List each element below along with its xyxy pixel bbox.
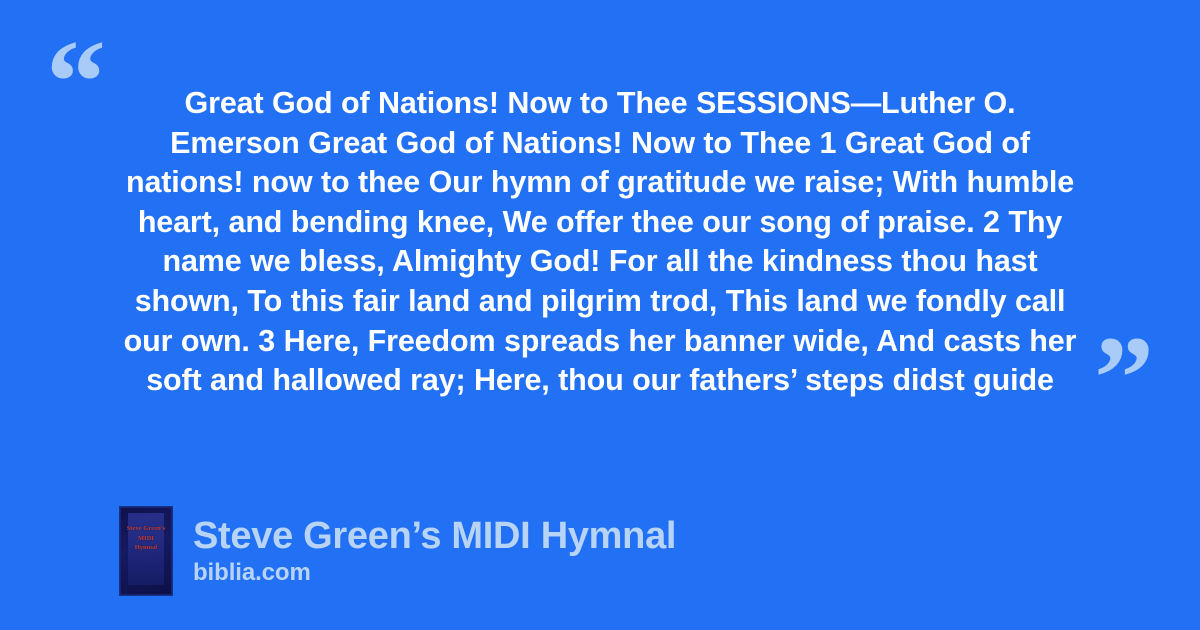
resource-title: Steve Green’s MIDI Hymnal bbox=[193, 514, 676, 558]
quote-card: “ Great God of Nations! Now to Thee SESS… bbox=[0, 0, 1200, 630]
brand-block: Steve Green’s MIDI Hymnal biblia.com bbox=[193, 514, 676, 588]
book-cover-line-1: Steve Green’s bbox=[121, 524, 171, 534]
source-domain: biblia.com bbox=[193, 558, 676, 588]
book-cover-line-2: MIDI bbox=[121, 534, 171, 544]
quote-body: Great God of Nations! Now to Thee SESSIO… bbox=[118, 84, 1082, 401]
open-quote-icon: “ bbox=[46, 22, 106, 142]
footer-attribution: Steve Green’s MIDI Hymnal Steve Green’s … bbox=[120, 507, 676, 595]
close-quote-icon: ” bbox=[1094, 318, 1154, 438]
book-cover-text: Steve Green’s MIDI Hymnal bbox=[121, 524, 171, 553]
book-cover-line-3: Hymnal bbox=[121, 543, 171, 553]
book-cover-thumbnail: Steve Green’s MIDI Hymnal bbox=[120, 507, 172, 595]
quote-text: Great God of Nations! Now to Thee SESSIO… bbox=[118, 84, 1082, 401]
